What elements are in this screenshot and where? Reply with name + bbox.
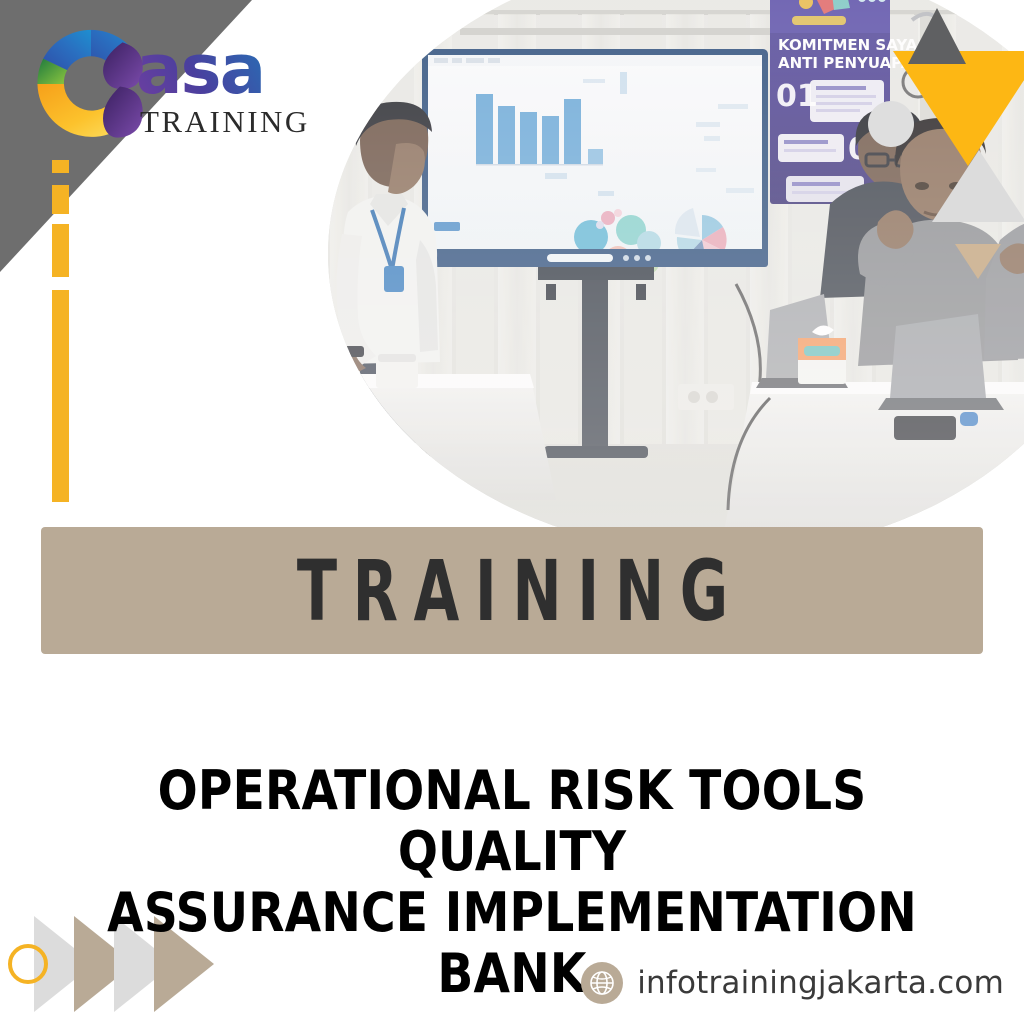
yellow-triangle-down: [893, 51, 1024, 166]
training-banner-label: TRAINING: [281, 542, 744, 640]
rail-dash-3: [52, 224, 69, 277]
rail-dash-2: [52, 185, 69, 214]
training-banner: TRAINING: [41, 527, 983, 654]
rail-dash-4: [52, 290, 69, 502]
website-url[interactable]: infotrainingjakarta.com: [637, 965, 1004, 1001]
globe-icon: [581, 962, 623, 1004]
logo-text-block: asa TRAINING: [136, 18, 310, 140]
gray-triangle-up: [908, 8, 966, 64]
white-triangle-up: [932, 150, 1024, 222]
logo-wordmark: asa: [136, 44, 310, 98]
footer-bar: infotrainingjakarta.com: [581, 962, 1004, 1004]
yellow-ring-outline: [8, 944, 48, 984]
logo-tagline: TRAINING: [140, 104, 310, 140]
poster-canvas: KOMITMEN SAYA ANTI PENYUAPAN 01 02: [0, 0, 1024, 1024]
page-title-line-1: OPERATIONAL RISK TOOLS QUALITY: [37, 760, 988, 882]
page-title-line-2: ASSURANCE IMPLEMENTATION: [37, 882, 988, 943]
rail-dash-1: [52, 160, 69, 173]
tan-triangle-down: [955, 244, 1001, 279]
brand-logo: asa TRAINING: [28, 18, 338, 160]
